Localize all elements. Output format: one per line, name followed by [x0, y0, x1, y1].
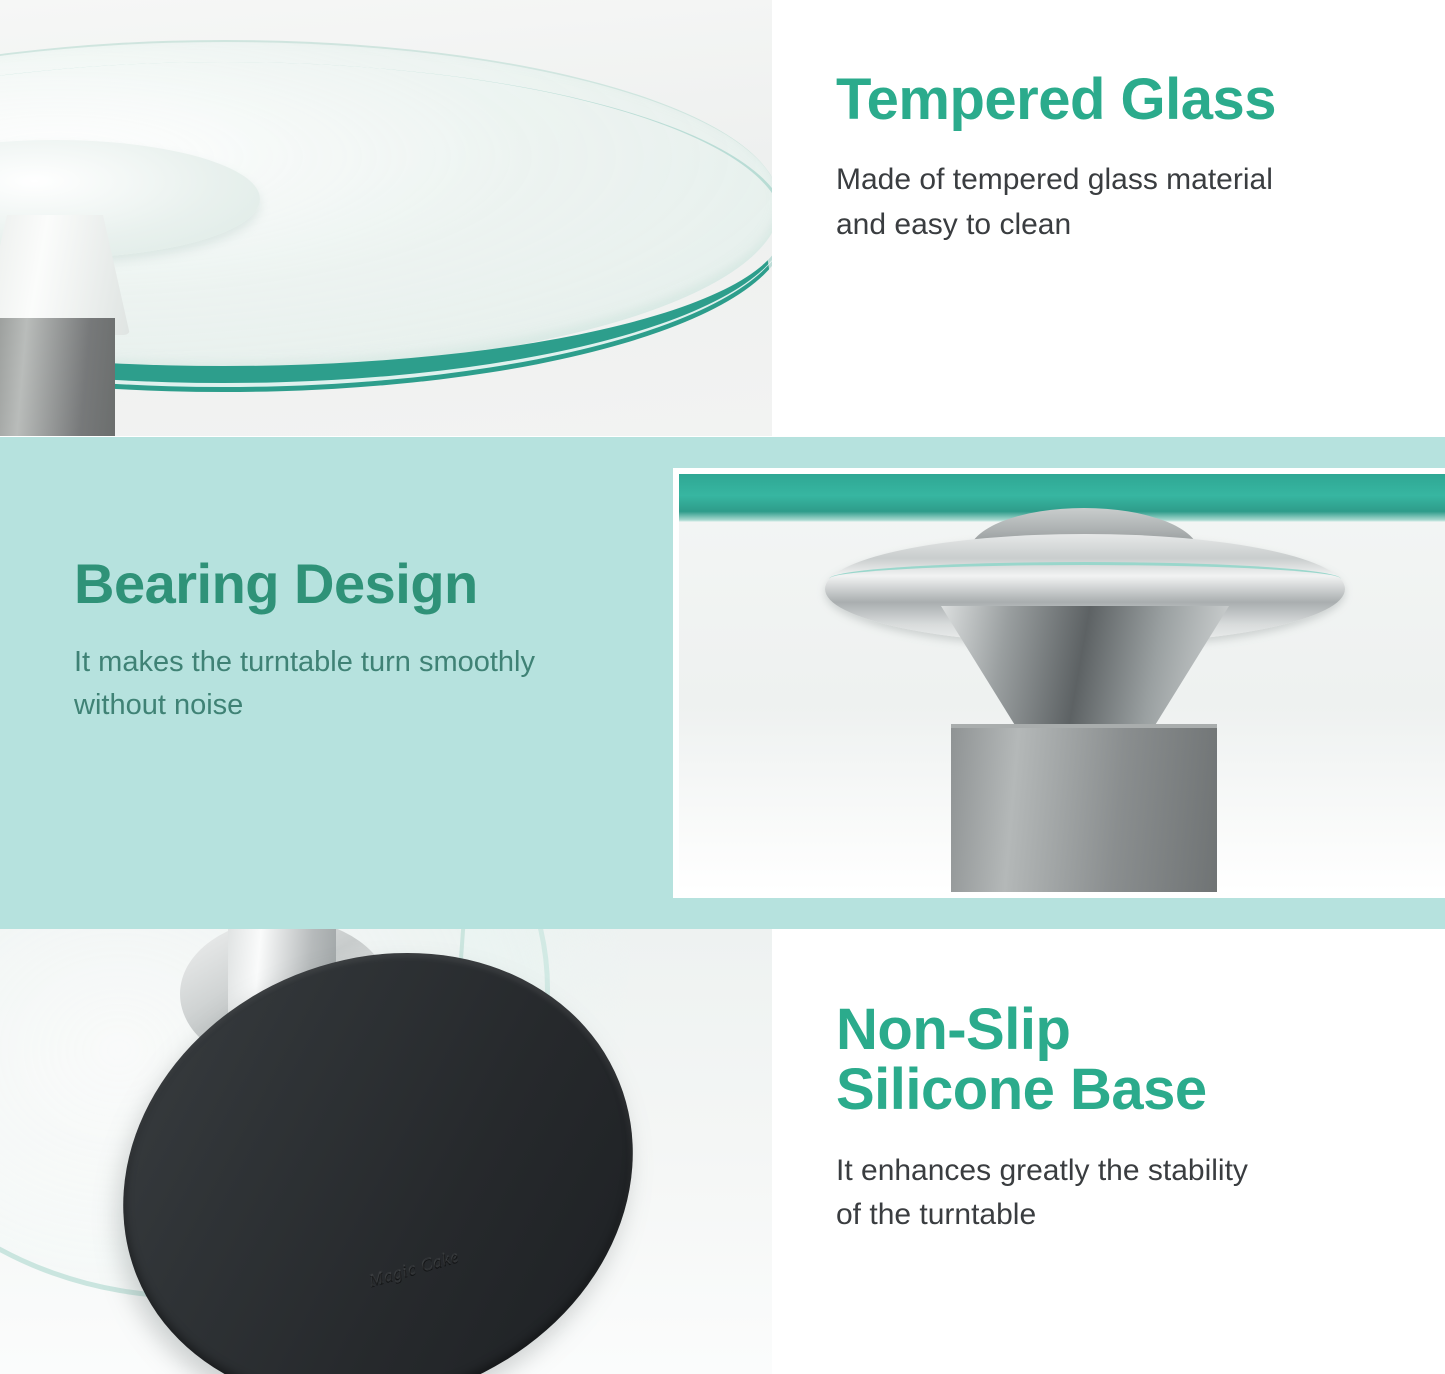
- bearing-gray-base-column: [951, 724, 1217, 892]
- infographic-page: Tempered Glass Made of tempered glass ma…: [0, 0, 1445, 1374]
- photo-silicone-base: Magic Cake: [0, 929, 772, 1374]
- hub-stem-base: [0, 318, 115, 436]
- body-line-2: of the turntable: [836, 1193, 1396, 1237]
- photo-glass-turntable-edge: [0, 0, 772, 436]
- panel-text-non-slip: Non-Slip Silicone Base It enhances great…: [836, 1000, 1396, 1237]
- panel-title-non-slip-silicone-base: Non-Slip Silicone Base: [836, 1000, 1396, 1121]
- panel-body-bearing-design: It makes the turntable turn smoothly wit…: [74, 641, 654, 727]
- body-line-1: It makes the turntable turn smoothly: [74, 641, 654, 684]
- body-line-1: Made of tempered glass material: [836, 158, 1396, 202]
- title-line-2: Silicone Base: [836, 1060, 1396, 1120]
- panel-tempered-glass: Tempered Glass Made of tempered glass ma…: [0, 0, 1445, 437]
- brand-emboss-text: Magic Cake: [367, 1246, 462, 1291]
- photo-bearing-mechanism: [673, 468, 1445, 898]
- panel-body-tempered-glass: Made of tempered glass material and easy…: [836, 158, 1396, 247]
- bearing-seam-line: [829, 562, 1341, 596]
- panel-text-tempered-glass: Tempered Glass Made of tempered glass ma…: [836, 70, 1396, 247]
- bearing-cone-shaft: [941, 606, 1229, 736]
- panel-gutter: [772, 0, 792, 437]
- panel-non-slip-silicone-base: Magic Cake Non-Slip Silicone Base It enh…: [0, 929, 1445, 1374]
- panel-title-tempered-glass: Tempered Glass: [836, 70, 1396, 130]
- panel-bearing-design: Bearing Design It makes the turntable tu…: [0, 437, 1445, 929]
- body-line-2: and easy to clean: [836, 203, 1396, 247]
- body-line-1: It enhances greatly the stability: [836, 1149, 1396, 1193]
- panel-title-bearing-design: Bearing Design: [74, 555, 654, 613]
- body-line-2: without noise: [74, 684, 654, 727]
- panel-text-bearing-design: Bearing Design It makes the turntable tu…: [74, 555, 654, 727]
- photo-frame-inner: [679, 474, 1445, 892]
- title-line-1: Non-Slip: [836, 1000, 1396, 1060]
- panel-body-non-slip: It enhances greatly the stability of the…: [836, 1149, 1396, 1238]
